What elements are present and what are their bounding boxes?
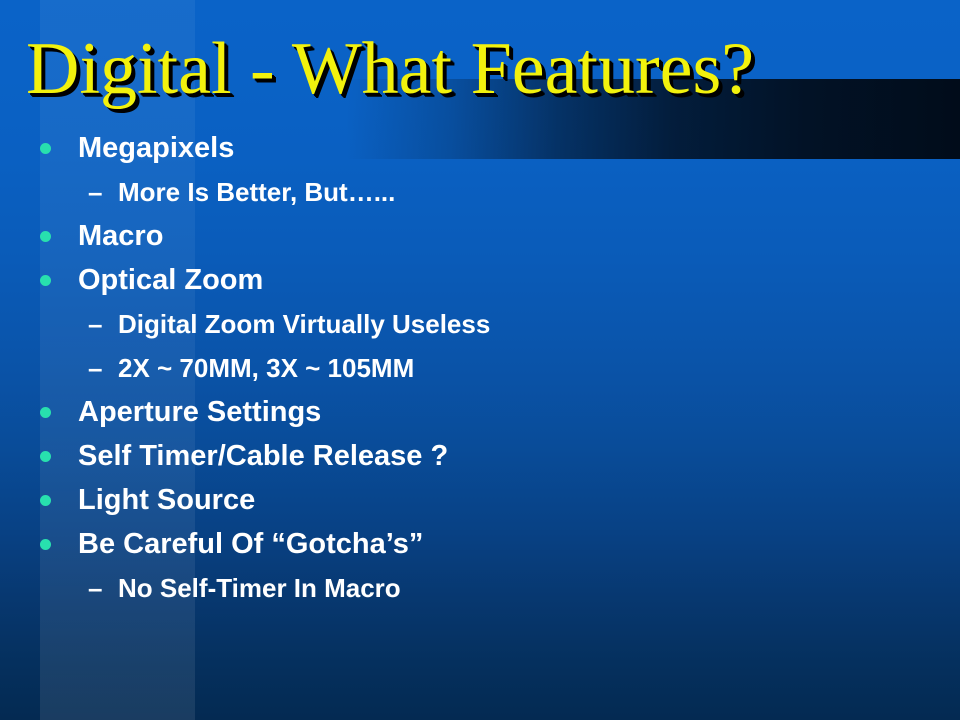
bullet-dot-icon <box>40 478 78 522</box>
sub-bullet-item: –2X ~ 70MM, 3X ~ 105MM <box>0 346 960 390</box>
en-dash-icon: – <box>88 566 118 610</box>
bullet-item: Macro <box>0 214 960 258</box>
presentation-slide: Digital - What Features? Megapixels–More… <box>0 0 960 720</box>
en-dash-glyph: – <box>88 170 102 214</box>
bullet-label: Macro <box>78 214 960 258</box>
bullet-label: Optical Zoom <box>78 258 960 302</box>
bullet-dot-icon <box>40 126 78 170</box>
bullet-dot-shape <box>40 143 51 154</box>
sub-bullet-item: –More Is Better, But…... <box>0 170 960 214</box>
en-dash-glyph: – <box>88 346 102 390</box>
sub-bullet-label: More Is Better, But…... <box>118 170 960 214</box>
bullet-dot-shape <box>40 231 51 242</box>
bullet-item: Self Timer/Cable Release ? <box>0 434 960 478</box>
sub-bullet-label: 2X ~ 70MM, 3X ~ 105MM <box>118 346 960 390</box>
bullet-dot-shape <box>40 495 51 506</box>
bullet-label: Aperture Settings <box>78 390 960 434</box>
bullet-dot-shape <box>40 275 51 286</box>
bullet-dot-icon <box>40 258 78 302</box>
bullet-item: Be Careful Of “Gotcha’s” <box>0 522 960 566</box>
slide-title: Digital - What Features? <box>26 26 926 112</box>
sub-bullet-item: –Digital Zoom Virtually Useless <box>0 302 960 346</box>
bullet-dot-shape <box>40 407 51 418</box>
bullet-label: Light Source <box>78 478 960 522</box>
en-dash-icon: – <box>88 170 118 214</box>
en-dash-glyph: – <box>88 302 102 346</box>
en-dash-icon: – <box>88 346 118 390</box>
bullet-item: Megapixels <box>0 126 960 170</box>
bullet-dot-icon <box>40 522 78 566</box>
sub-bullet-label: Digital Zoom Virtually Useless <box>118 302 960 346</box>
bullet-label: Megapixels <box>78 126 960 170</box>
bullet-item: Aperture Settings <box>0 390 960 434</box>
bullet-item: Optical Zoom <box>0 258 960 302</box>
sub-bullet-label: No Self-Timer In Macro <box>118 566 960 610</box>
en-dash-glyph: – <box>88 566 102 610</box>
bullet-dot-icon <box>40 214 78 258</box>
bullet-label: Self Timer/Cable Release ? <box>78 434 960 478</box>
sub-bullet-item: –No Self-Timer In Macro <box>0 566 960 610</box>
en-dash-icon: – <box>88 302 118 346</box>
bullet-item: Light Source <box>0 478 960 522</box>
slide-body-content: Megapixels–More Is Better, But…...MacroO… <box>0 126 960 610</box>
bullet-dot-shape <box>40 539 51 550</box>
bullet-dot-icon <box>40 434 78 478</box>
bullet-label: Be Careful Of “Gotcha’s” <box>78 522 960 566</box>
bullet-dot-shape <box>40 451 51 462</box>
bullet-dot-icon <box>40 390 78 434</box>
